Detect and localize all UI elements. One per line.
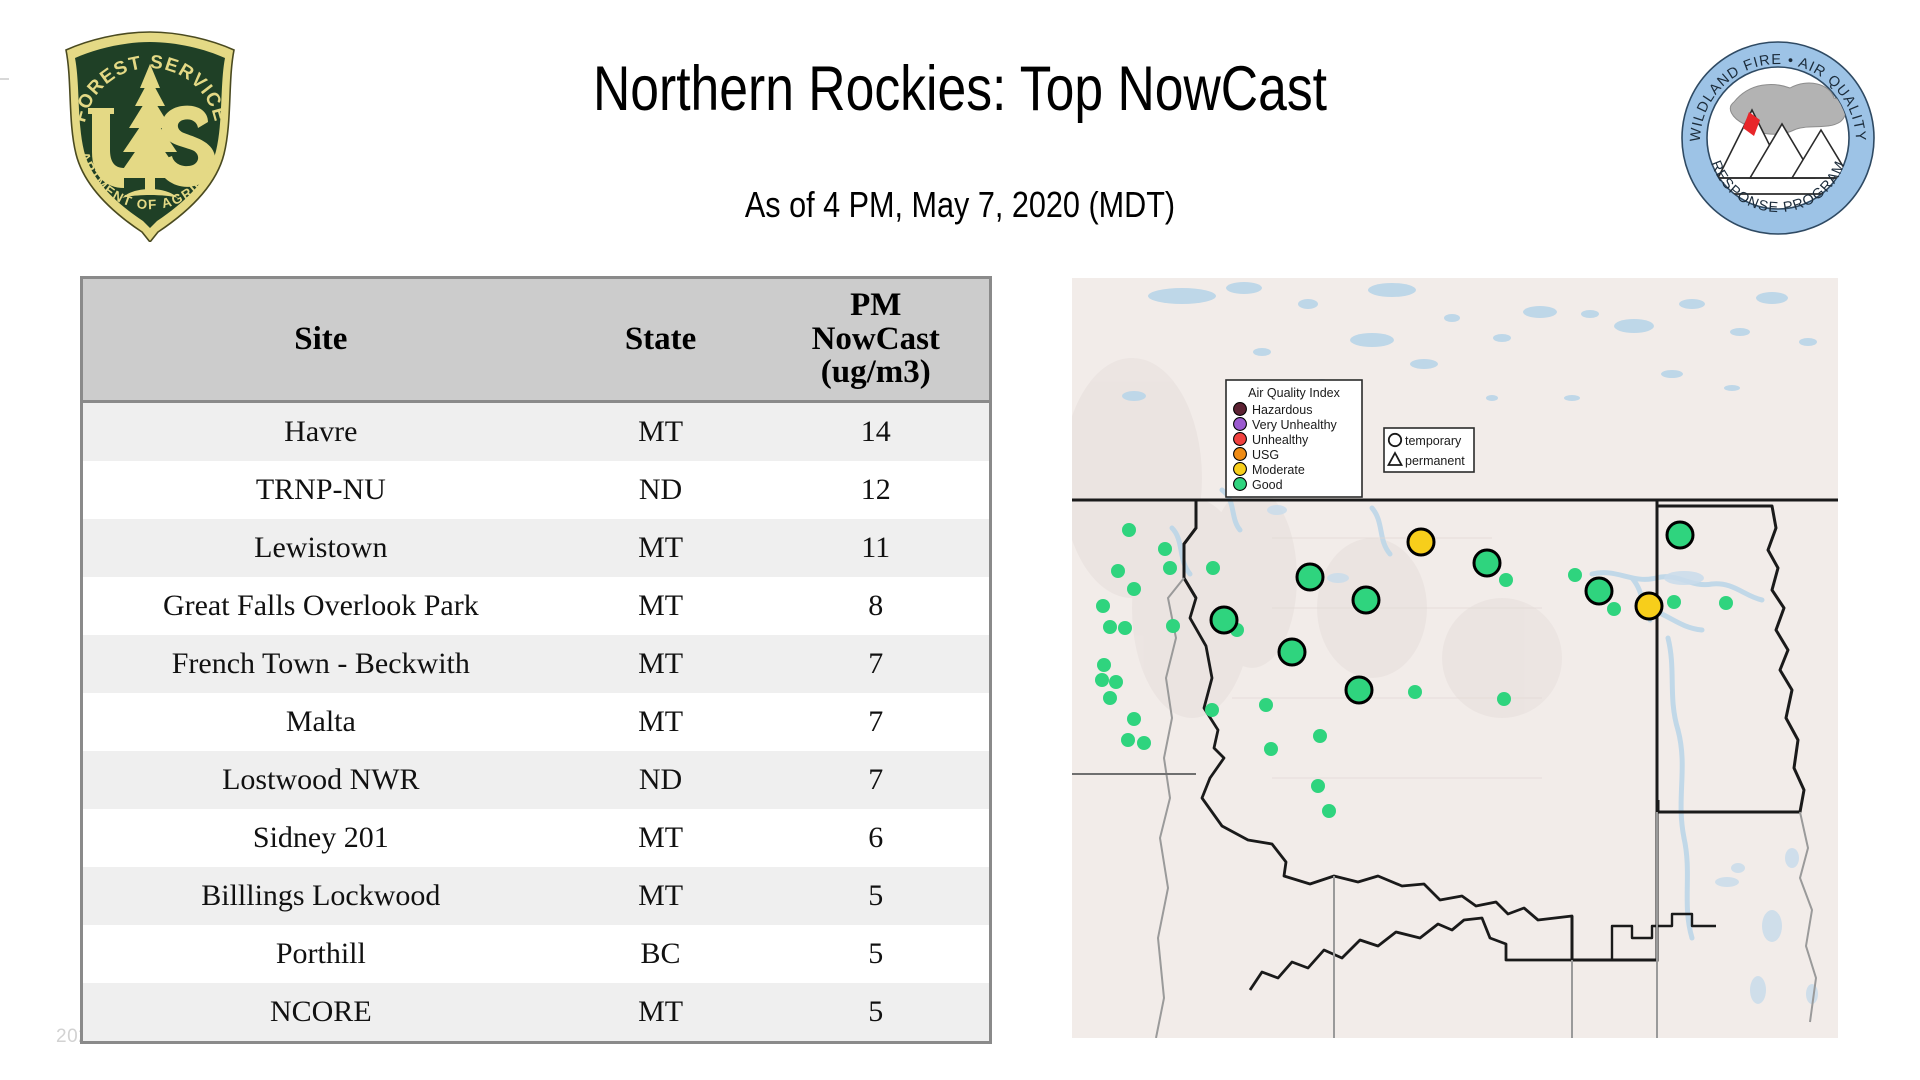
- svg-text:Good: Good: [1252, 478, 1283, 492]
- air-quality-monitor-map[interactable]: Air Quality Index Hazardous Very Unhealt…: [1072, 278, 1838, 1038]
- cell-site: Sidney 201: [83, 809, 559, 867]
- top-nowcast-table: Site State PM NowCast (ug/m3) Havre MT 1…: [80, 276, 992, 1044]
- pm-line-2: NowCast: [812, 321, 940, 357]
- cell-site: TRNP-NU: [83, 461, 559, 519]
- cell-state: MT: [559, 577, 763, 635]
- cell-site: NCORE: [83, 983, 559, 1041]
- svg-text:Hazardous: Hazardous: [1252, 403, 1312, 417]
- cell-value: 7: [762, 635, 989, 693]
- aqi-legend: Air Quality Index Hazardous Very Unhealt…: [1226, 380, 1362, 497]
- cell-state: MT: [559, 693, 763, 751]
- table-row: TRNP-NU ND 12: [83, 461, 989, 519]
- cell-state: BC: [559, 925, 763, 983]
- cell-site: French Town - Beckwith: [83, 635, 559, 693]
- page-subtitle: As of 4 PM, May 7, 2020 (MDT): [144, 185, 1776, 225]
- cell-site: Havre: [83, 401, 559, 461]
- cell-state: MT: [559, 867, 763, 925]
- column-header-state: State: [559, 279, 763, 401]
- page-title: Northern Rockies: Top NowCast: [173, 56, 1747, 122]
- cell-state: ND: [559, 461, 763, 519]
- table-row: Malta MT 7: [83, 693, 989, 751]
- cell-value: 12: [762, 461, 989, 519]
- svg-text:Unhealthy: Unhealthy: [1252, 433, 1309, 447]
- table-row: Havre MT 14: [83, 401, 989, 461]
- table-row: Lostwood NWR ND 7: [83, 751, 989, 809]
- pm-line-1: PM: [850, 287, 901, 323]
- cell-value: 7: [762, 693, 989, 751]
- table-row: Billlings Lockwood MT 5: [83, 867, 989, 925]
- cell-site: Lostwood NWR: [83, 751, 559, 809]
- cell-state: MT: [559, 635, 763, 693]
- slide-edge-tick: [0, 78, 9, 80]
- svg-text:Air Quality Index: Air Quality Index: [1248, 386, 1340, 400]
- table-row: French Town - Beckwith MT 7: [83, 635, 989, 693]
- cell-site: Lewistown: [83, 519, 559, 577]
- cell-site: Porthill: [83, 925, 559, 983]
- cell-value: 5: [762, 983, 989, 1041]
- cell-value: 6: [762, 809, 989, 867]
- monitor-type-legend: temporary permanent: [1384, 428, 1474, 472]
- svg-text:temporary: temporary: [1405, 434, 1462, 448]
- cell-state: MT: [559, 401, 763, 461]
- table-row: Porthill BC 5: [83, 925, 989, 983]
- cell-state: MT: [559, 983, 763, 1041]
- cell-value: 7: [762, 751, 989, 809]
- cell-state: MT: [559, 809, 763, 867]
- cell-site: Malta: [83, 693, 559, 751]
- svg-text:permanent: permanent: [1405, 454, 1465, 468]
- svg-text:Very Unhealthy: Very Unhealthy: [1252, 418, 1338, 432]
- cell-value: 5: [762, 925, 989, 983]
- table-row: Great Falls Overlook Park MT 8: [83, 577, 989, 635]
- cell-value: 5: [762, 867, 989, 925]
- column-header-pm-nowcast: PM NowCast (ug/m3): [762, 279, 989, 401]
- table-row: Sidney 201 MT 6: [83, 809, 989, 867]
- column-header-site: Site: [83, 279, 559, 401]
- cell-site: Great Falls Overlook Park: [83, 577, 559, 635]
- cell-site: Billlings Lockwood: [83, 867, 559, 925]
- cell-state: ND: [559, 751, 763, 809]
- table-header-row: Site State PM NowCast (ug/m3): [83, 279, 989, 401]
- slide-root: FOREST SERVICE DEPARTMENT OF AGRICULTURE: [0, 0, 1920, 1080]
- table-row: Lewistown MT 11: [83, 519, 989, 577]
- cell-value: 14: [762, 401, 989, 461]
- cell-state: MT: [559, 519, 763, 577]
- table-row: NCORE MT 5: [83, 983, 989, 1041]
- table-body: Havre MT 14 TRNP-NU ND 12 Lewistown MT 1…: [83, 401, 989, 1041]
- cell-value: 8: [762, 577, 989, 635]
- pm-line-3: (ug/m3): [821, 354, 931, 390]
- svg-text:Moderate: Moderate: [1252, 463, 1305, 477]
- cell-value: 11: [762, 519, 989, 577]
- svg-text:USG: USG: [1252, 448, 1279, 462]
